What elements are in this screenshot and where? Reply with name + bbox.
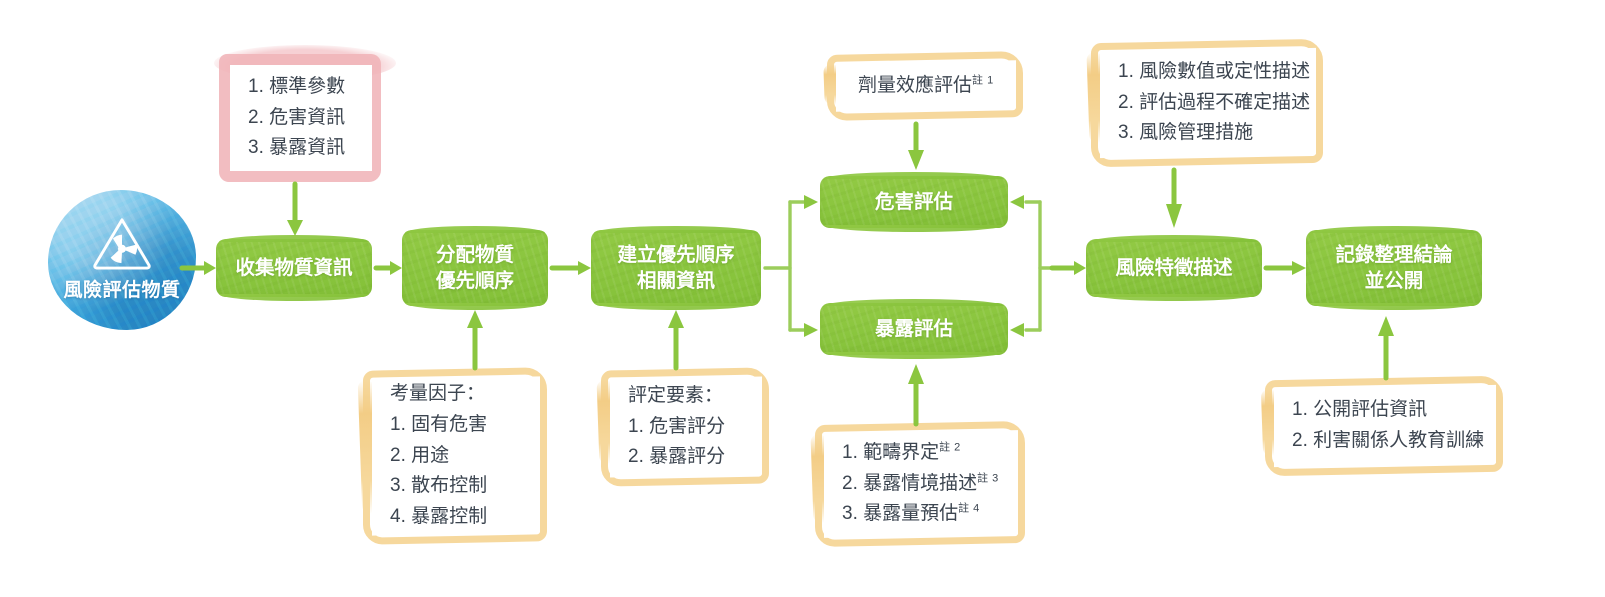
footnote-ref: 註 3 [977,472,999,484]
note-line: 2. 危害資訊 [248,103,354,134]
note-line: 3. 暴露資訊 [248,133,354,164]
note-line: 評定要素： [628,381,744,412]
connector-collect-to-allocate [376,261,402,275]
note-line: 1. 固有危害 [390,410,522,441]
note-line: 1. 公開評估資訊 [1292,395,1478,426]
connector-priority-split-bracket [765,195,818,337]
note-card-considerations[interactable]: 考量因子： 1. 固有危害 2. 用途 3. 散布控制 4. 暴露控制 [372,378,540,534]
note-line: 2. 利害關係人教育訓練 [1292,426,1478,457]
connector-inputs-to-collect [287,184,303,236]
note-line: 劑量效應評估註 1 [858,71,994,102]
note-card-disclosure[interactable]: 1. 公開評估資訊 2. 利害關係人教育訓練 [1274,387,1496,465]
note-line: 2. 暴露情境描述註 3 [842,469,1000,500]
connector-disclosure-to-record [1378,316,1394,378]
connector-considerations-to-allocate [467,310,483,368]
note-card-risk-outputs[interactable]: 1. 風險數值或定性描述 2. 評估過程不確定描述 3. 風險管理措施 [1100,50,1316,156]
connector-start-to-collect [182,261,216,275]
note-card-inputs[interactable]: 1. 標準參數 2. 危害資訊 3. 暴露資訊 [230,65,372,171]
connector-exposure-steps-to-exposure [908,364,924,424]
connector-characterization-to-record [1266,261,1306,275]
footnote-ref: 註 1 [972,74,994,86]
note-line: 2. 用途 [390,441,522,472]
footnote-ref: 註 4 [958,503,980,515]
note-line: 3. 暴露量預估註 4 [842,499,1000,530]
note-line: 1. 標準參數 [248,72,354,103]
note-line: 3. 散布控制 [390,471,522,502]
note-line: 考量因子： [390,379,522,410]
note-line: 2. 暴露評分 [628,442,744,473]
connector-risk-outputs-to-characterization [1166,170,1182,228]
note-card-exposure-steps[interactable]: 1. 範疇界定註 2 2. 暴露情境描述註 3 3. 暴露量預估註 4 [824,432,1018,536]
connector-dose-response-to-hazard [908,124,924,170]
note-card-dose-response[interactable]: 劑量效應評估註 1 [836,62,1016,110]
note-line: 3. 風險管理措施 [1118,118,1298,149]
note-line: 1. 風險數值或定性描述 [1118,57,1298,88]
note-line: 2. 評估過程不確定描述 [1118,88,1298,119]
note-line: 4. 暴露控制 [390,502,522,533]
connector-merge-bracket-to-characterization [1010,195,1086,337]
flowchart-canvas: 風險評估物質 收集物質資訊 分配物質 優先順序 建立優先順序 相關資訊 危害評估… [0,0,1605,597]
note-line: 1. 危害評分 [628,412,744,443]
connector-allocate-to-priority [552,261,591,275]
note-line: 1. 範疇界定註 2 [842,438,1000,469]
footnote-ref: 註 2 [939,442,961,454]
note-card-assessment-elements[interactable]: 評定要素： 1. 危害評分 2. 暴露評分 [610,378,762,476]
connector-elements-to-priority [668,310,684,368]
